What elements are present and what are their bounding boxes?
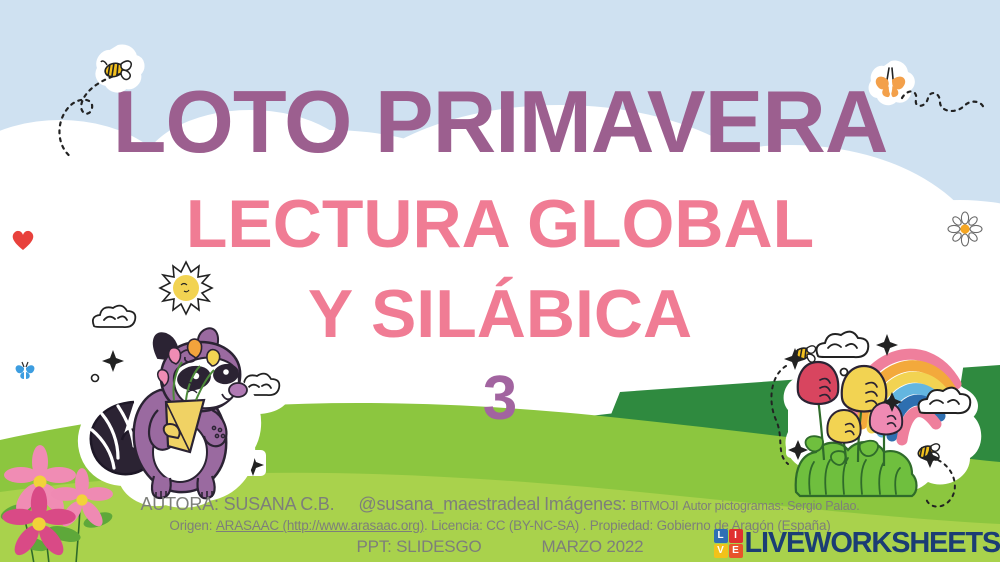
logo-tile-i: I	[729, 529, 743, 543]
credits-line-1: AUTORA: SUSANA C.B.@susana_maestradeal I…	[0, 494, 1000, 516]
credits-pictograms: Autor pictogramas: Sergio Palao.	[682, 499, 859, 513]
liveworksheets-logo[interactable]: L I V E LIVEWORKSHEETS	[714, 526, 1000, 560]
credits-author: AUTORA: SUSANA C.B.	[140, 494, 334, 514]
slide-canvas: LOTO PRIMAVERA LECTURA GLOBAL Y SILÁBICA…	[0, 0, 1000, 562]
liveworksheets-wordmark: LIVEWORKSHEETS	[745, 529, 1000, 558]
blue-butterfly-icon	[12, 358, 38, 382]
logo-tile-l: L	[714, 529, 728, 543]
credits-origin-label: Origen:	[169, 518, 212, 533]
flower-garden-sticker	[748, 292, 1000, 522]
credits-date: MARZO 2022	[542, 537, 644, 556]
butterfly-flight-path	[900, 80, 1000, 140]
raccoon-sticker	[62, 250, 292, 510]
liveworksheets-logo-tiles: L I V E	[714, 529, 743, 558]
daisy-icon	[948, 212, 982, 246]
logo-tile-v: V	[714, 544, 728, 558]
credits-ppt: PPT: SLIDESGO	[357, 537, 482, 556]
credits-handle: @susana_maestradeal	[358, 494, 540, 514]
heart-icon	[10, 228, 36, 252]
bee-flight-path	[20, 62, 130, 172]
credits-origin-link[interactable]: ARASAAC (http://www.arasaac.org)	[216, 518, 424, 533]
credits-images-value: BITMOJI	[630, 499, 678, 513]
credits-images-label: Imágenes:	[544, 494, 626, 514]
logo-tile-e: E	[729, 544, 743, 558]
